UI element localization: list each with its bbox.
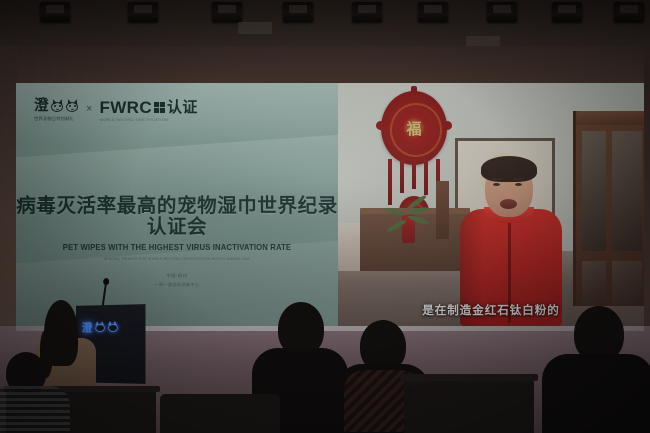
cat-face-icon — [107, 322, 118, 332]
podium-brand-logo: 澄 — [82, 319, 118, 335]
slide-footer-line1: 中国·杭州 — [16, 273, 338, 279]
cabinet-glass-pane — [612, 261, 642, 305]
slide-title-note: SPECIAL TRIBUTE FOR WORLD RECORD CERTIFI… — [16, 257, 338, 261]
slide-panel: 澄 世界宠物日特别献礼 × FWRC — [16, 83, 338, 326]
slide-logo-row: 澄 世界宠物日特别献礼 × FWRC — [34, 99, 198, 122]
partner-logo-main: FWRC 认证 — [99, 99, 197, 116]
potted-plant — [390, 198, 430, 234]
ornament-disc: 福 — [381, 91, 447, 165]
projection-screen: 澄 世界宠物日特别献礼 × FWRC — [16, 83, 644, 326]
slide-title-cn: 病毒灭活率最高的宠物湿巾世界纪录认证会 — [16, 195, 338, 238]
ceiling-light — [418, 2, 448, 22]
speaker-eyebrow — [513, 178, 523, 180]
ceiling — [0, 0, 650, 46]
cabinet-glass-pane — [582, 131, 606, 251]
slide-footer-line2: 一带一路国际创新中心 — [16, 282, 338, 288]
ceiling-light — [283, 2, 313, 22]
audience-striped-shirt — [0, 386, 70, 433]
cat-face-icon — [50, 100, 64, 113]
speaker-mouth — [500, 199, 517, 209]
slide-footer: 中国·杭州 一带一路国际创新中心 — [16, 273, 338, 288]
ceiling-light — [128, 2, 158, 22]
partner-cn-label: 认证 — [167, 100, 198, 115]
audience-member — [548, 306, 650, 433]
ornament-medallion: 福 — [397, 111, 431, 145]
audience-member — [0, 352, 70, 433]
video-panel: 福 — [338, 83, 644, 326]
ornament-knob — [443, 121, 452, 130]
cat-face-icon — [65, 100, 79, 113]
upper-wall — [0, 46, 650, 88]
brand-logo-mark: 澄 — [34, 99, 79, 114]
ceiling-light — [552, 2, 582, 22]
brand-logo: 澄 世界宠物日特别献礼 — [34, 99, 79, 122]
slide-title-en: PET WIPES WITH THE HIGHEST VIRUS INACTIV… — [24, 243, 330, 252]
cabinet-glass-pane — [582, 261, 606, 305]
speaker-hair — [481, 156, 537, 182]
fu-ornament: 福 — [381, 91, 447, 165]
brand-tagline: 世界宠物日特别献礼 — [34, 116, 79, 122]
presentation-room-photo: 澄 世界宠物日特别献礼 × FWRC — [0, 0, 650, 433]
chair — [404, 378, 534, 433]
ceiling-light — [352, 2, 382, 22]
ceiling-light — [40, 2, 70, 22]
ornament-tassel — [424, 159, 428, 195]
ornament-tassel — [412, 159, 416, 189]
ceiling-light — [614, 2, 644, 22]
brand-char: 澄 — [34, 99, 49, 114]
ornament-knob — [376, 121, 385, 130]
ceiling-light — [487, 2, 517, 22]
fu-character: 福 — [406, 118, 421, 139]
speaker-eyebrow — [491, 178, 501, 180]
partner-name: FWRC — [99, 99, 152, 116]
partner-logo: FWRC 认证 WORLD RECORD CERTIFICATION — [99, 99, 197, 122]
podium-brand-char: 澄 — [82, 319, 93, 335]
grid-icon — [154, 102, 165, 113]
wooden-cabinet — [573, 111, 644, 306]
ornament-tassel — [400, 159, 404, 193]
partner-sub-label: WORLD RECORD CERTIFICATION — [99, 118, 197, 122]
speaker-eye — [493, 183, 500, 186]
cat-face-icon — [94, 322, 105, 332]
plant-leaf — [407, 214, 429, 226]
chair-frame-bar — [400, 374, 538, 381]
speaker-eye — [515, 183, 522, 186]
logo-separator: × — [86, 103, 92, 115]
cabinet-glass-pane — [612, 131, 642, 251]
chair — [160, 394, 280, 433]
audience-torso — [542, 354, 650, 433]
ceiling-vent-panel — [238, 22, 272, 34]
ceiling-light — [212, 2, 242, 22]
slide-title-block: 病毒灭活率最高的宠物湿巾世界纪录认证会 PET WIPES WITH THE H… — [16, 195, 338, 261]
carved-wood-sculpture — [436, 181, 449, 239]
